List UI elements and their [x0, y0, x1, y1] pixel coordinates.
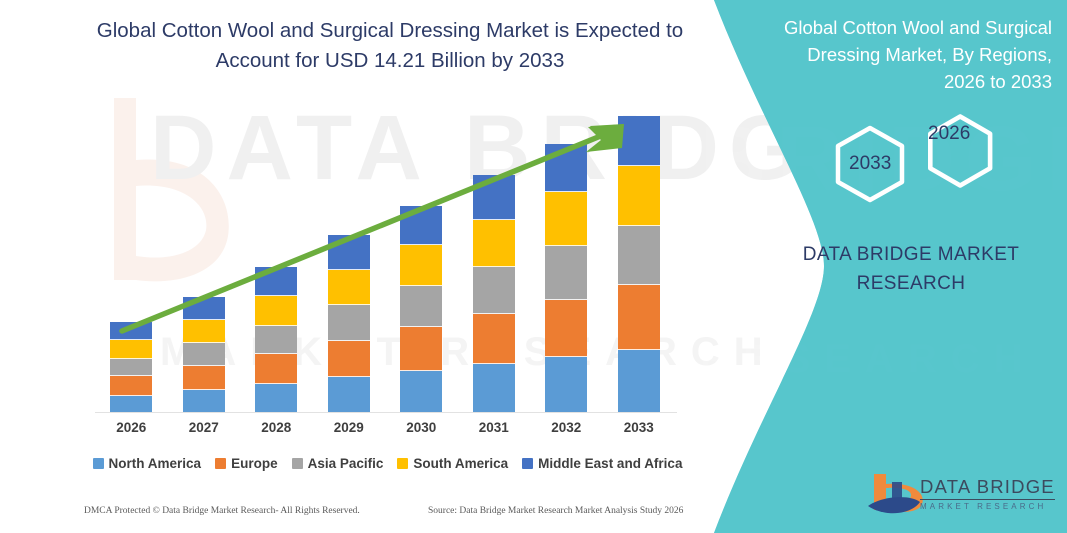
bar-segment: [618, 226, 660, 285]
legend-label: Asia Pacific: [308, 456, 384, 471]
bar-2026: [110, 322, 152, 413]
footer: DMCA Protected © Data Bridge Market Rese…: [0, 506, 700, 528]
bar-segment: [618, 285, 660, 350]
bar-2032: [545, 144, 587, 413]
bar-segment: [400, 286, 442, 327]
x-axis-label-2031: 2031: [458, 420, 530, 435]
bar-segment: [110, 359, 152, 376]
legend-item[interactable]: Europe: [215, 456, 278, 471]
legend-swatch: [93, 458, 104, 469]
bar-segment: [618, 166, 660, 225]
bar-segment: [255, 296, 297, 326]
x-axis-label-2032: 2032: [530, 420, 602, 435]
bar-segment: [255, 384, 297, 413]
bar-segment: [110, 396, 152, 413]
panel-brand: DATA BRIDGE MARKET RESEARCH: [770, 240, 1052, 298]
panel-title: Global Cotton Wool and Surgical Dressing…: [770, 14, 1052, 95]
bar-2027: [183, 297, 225, 413]
bar-2031: [473, 175, 515, 413]
bar-segment: [545, 192, 587, 246]
bar-segment: [473, 175, 515, 220]
hexagon-label-2026: 2026: [928, 123, 970, 145]
bar-segment: [328, 305, 370, 340]
legend-item[interactable]: Middle East and Africa: [522, 456, 682, 471]
infographic-canvas: DATA BRIDGE MARKET RESEARCH BRIDGE RESEA…: [0, 0, 1067, 533]
bar-segment: [400, 245, 442, 286]
bar-segment: [255, 326, 297, 355]
legend-item[interactable]: South America: [397, 456, 508, 471]
bar-segment: [400, 371, 442, 413]
legend-label: Middle East and Africa: [538, 456, 682, 471]
data-bridge-logo-text: DATA BRIDGE MARKET RESEARCH: [920, 476, 1060, 511]
bar-2030: [400, 206, 442, 413]
bar-segment: [110, 376, 152, 396]
bar-segment: [618, 350, 660, 413]
logo-subtitle: MARKET RESEARCH: [920, 502, 1060, 511]
x-axis-label-2026: 2026: [95, 420, 167, 435]
bar-segment: [545, 357, 587, 413]
x-axis-label-2027: 2027: [168, 420, 240, 435]
legend-swatch: [397, 458, 408, 469]
bar-segment: [328, 377, 370, 413]
bar-segment: [255, 354, 297, 384]
bar-segment: [110, 322, 152, 340]
legend-label: South America: [413, 456, 508, 471]
logo-name: DATA BRIDGE: [920, 476, 1055, 500]
panel-brand-line1: DATA BRIDGE MARKET: [803, 244, 1020, 265]
hexagon-group: 2026 2033: [800, 98, 1050, 218]
legend-swatch: [215, 458, 226, 469]
bar-segment: [473, 364, 515, 413]
bar-2028: [255, 267, 297, 413]
bar-segment: [183, 320, 225, 343]
bar-segment: [618, 116, 660, 166]
legend-swatch: [522, 458, 533, 469]
stacked-bar-chart: [0, 0, 700, 460]
chart-legend: North AmericaEuropeAsia PacificSouth Ame…: [95, 452, 680, 474]
x-axis-label-2030: 2030: [385, 420, 457, 435]
bar-segment: [183, 343, 225, 366]
bar-segment: [400, 327, 442, 370]
x-axis-line: [95, 412, 677, 413]
bar-segment: [473, 220, 515, 267]
bar-segment: [473, 267, 515, 314]
bar-2029: [328, 235, 370, 413]
bar-segment: [400, 206, 442, 245]
bar-2033: [618, 116, 660, 413]
bar-segment: [328, 341, 370, 378]
bar-segment: [183, 297, 225, 320]
panel-brand-line2: RESEARCH: [857, 273, 966, 294]
bar-segment: [183, 366, 225, 390]
x-axis-label-2029: 2029: [313, 420, 385, 435]
legend-label: Europe: [231, 456, 278, 471]
bar-segment: [545, 246, 587, 300]
bar-segment: [328, 235, 370, 269]
plot-area: [95, 100, 675, 413]
footer-source: Source: Data Bridge Market Research Mark…: [428, 506, 683, 516]
bar-segment: [110, 340, 152, 358]
x-axis-label-2028: 2028: [240, 420, 312, 435]
legend-item[interactable]: Asia Pacific: [292, 456, 384, 471]
bar-segment: [545, 144, 587, 192]
bar-segment: [473, 314, 515, 364]
bar-segment: [545, 300, 587, 357]
svg-text:RESEARCH: RESEARCH: [700, 337, 1036, 381]
bar-segment: [328, 270, 370, 305]
x-axis-labels: 20262027202820292030203120322033: [95, 420, 677, 444]
x-axis-label-2033: 2033: [603, 420, 675, 435]
hexagon-label-2033: 2033: [849, 153, 891, 175]
legend-item[interactable]: North America: [93, 456, 202, 471]
bar-segment: [183, 390, 225, 413]
legend-swatch: [292, 458, 303, 469]
footer-copyright: DMCA Protected © Data Bridge Market Rese…: [84, 506, 360, 516]
bar-segment: [255, 267, 297, 296]
legend-label: North America: [109, 456, 202, 471]
